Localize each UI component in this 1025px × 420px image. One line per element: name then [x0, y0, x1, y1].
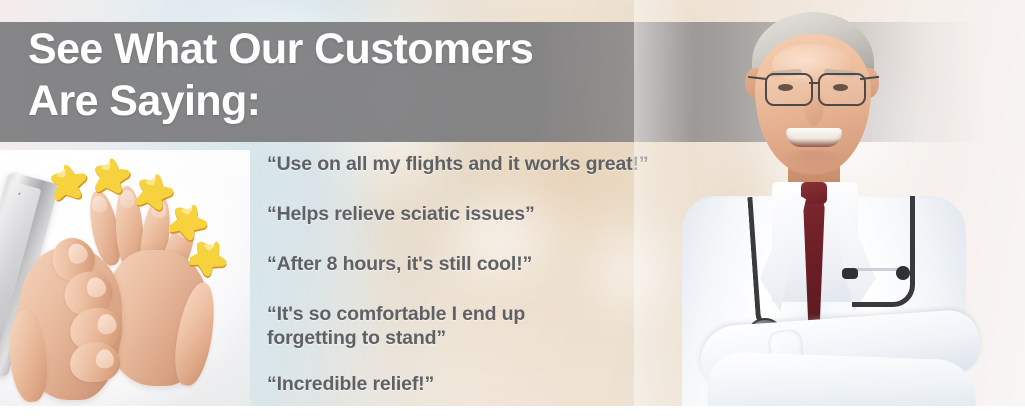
rating-star — [50, 162, 90, 202]
hand-front — [8, 210, 158, 408]
phone-rating-photo — [0, 150, 250, 408]
chin-shadow — [780, 150, 846, 170]
stethoscope-earpiece — [896, 266, 910, 280]
testimonial-quote: “Helps relieve sciatic issues” — [267, 202, 697, 226]
doctor-photo — [652, 0, 1025, 420]
testimonial-quote: “It's so comfortable I end up forgetting… — [267, 302, 697, 350]
fingernail — [96, 313, 118, 336]
page-title: See What Our Customers Are Saying: — [28, 23, 533, 127]
testimonial-quote: “Incredible relief!” — [267, 372, 697, 396]
smile — [786, 128, 842, 147]
eyeglass-bridge — [809, 82, 818, 84]
testimonial-quote: “Use on all my flights and it works grea… — [267, 152, 697, 176]
eyeglass-lens-left — [765, 73, 813, 106]
fingernail — [95, 349, 114, 369]
rating-star — [93, 156, 133, 196]
testimonial-list: “Use on all my flights and it works grea… — [267, 152, 697, 396]
stethoscope-tube-right — [852, 196, 915, 307]
testimonial-banner: See What Our Customers Are Saying: “Use … — [0, 0, 1025, 420]
stethoscope-connector — [842, 268, 858, 279]
eyeglass-lens-right — [818, 73, 866, 106]
fingernail — [65, 240, 91, 266]
bottom-white-strip — [0, 406, 1025, 420]
rating-star — [190, 238, 230, 278]
testimonial-quote: “After 8 hours, it's still cool!” — [267, 252, 697, 276]
rating-star — [170, 202, 210, 242]
fingernail — [84, 275, 108, 300]
